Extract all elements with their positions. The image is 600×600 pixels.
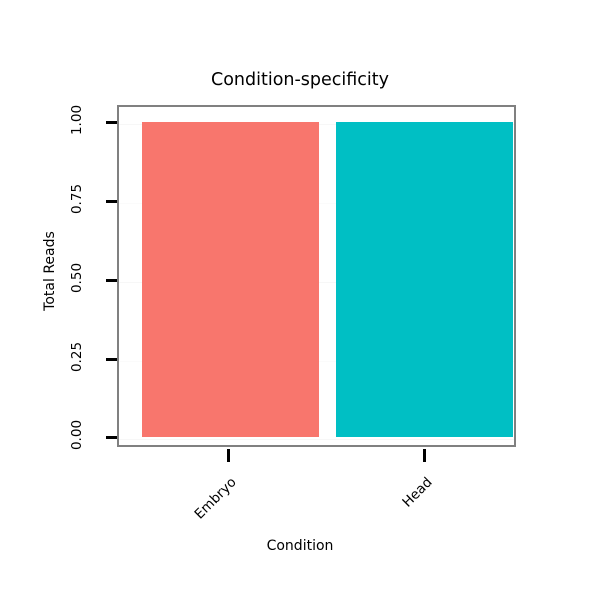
bar-head[interactable] [336,122,513,437]
y-tick-label: 0.50 [69,256,85,300]
y-tick-mark [106,436,117,439]
chart-title: Condition-specificity [0,70,600,90]
y-tick-label: 0.25 [69,335,85,379]
y-tick-mark [106,358,117,361]
y-axis-title: Total Reads [42,215,58,327]
y-tick-mark [106,279,117,282]
x-tick-mark [423,449,426,462]
x-axis-title: Condition [0,538,600,554]
y-tick-label: 0.00 [69,413,85,457]
x-tick-mark [227,449,230,462]
plot-panel [117,105,516,447]
chart-canvas: Condition-specificity 1.000.750.500.250.… [0,0,600,600]
gridline-major [119,439,514,440]
y-tick-label: 1.00 [69,98,85,142]
y-tick-mark [106,121,117,124]
y-tick-mark [106,200,117,203]
y-tick-label: 0.75 [69,177,85,221]
bar-embryo[interactable] [142,122,319,437]
